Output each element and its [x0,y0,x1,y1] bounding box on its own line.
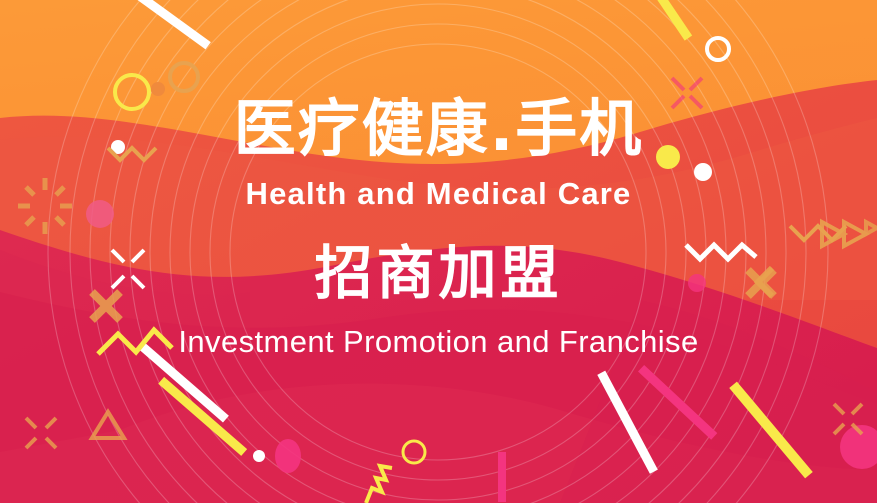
gold-triangle-bottom-left [92,412,124,438]
yellow-bar-bottom-left [158,377,247,456]
promotional-banner: 医疗健康.手机 Health and Medical Care 招商加盟 Inv… [0,0,877,503]
yellow-ring-top-left [115,75,149,109]
white-bar-top-left [125,0,211,49]
pink-blob-bottom-left [275,439,301,473]
yellow-dot-title [656,145,680,169]
gold-ring-top-left [170,63,198,91]
pink-bar-bottom-right [638,365,717,440]
yellow-bar-top-right [631,0,692,41]
gold-x-left [92,292,120,320]
gold-dot-top-left [151,82,165,96]
yellow-bar-bottom-right-2 [729,382,813,479]
pink-bar-vertical-bottom [498,452,506,502]
white-dot-title [694,163,712,181]
white-ring-top-right [707,38,729,60]
gold-play-arrows-right [822,222,877,246]
gold-dash-cross-bottom-right [834,404,862,434]
pink-dot-left [86,200,114,228]
decorative-shapes [0,0,877,503]
pink-dash-cross-top-right [672,78,702,108]
white-bar-bottom-left [138,342,228,422]
gold-dash-cross-bottom-left [26,418,56,448]
white-zigzag-mid-right [686,245,756,259]
yellow-zigzag-left [98,330,172,354]
white-bar-bottom-right [597,371,658,474]
white-dot-bottom-left [253,450,265,462]
gold-sunburst-left [18,178,72,234]
pink-dot-right [688,274,706,292]
yellow-ring-bottom-center [403,441,425,463]
yellow-zigzag-bottom-center [366,466,392,503]
